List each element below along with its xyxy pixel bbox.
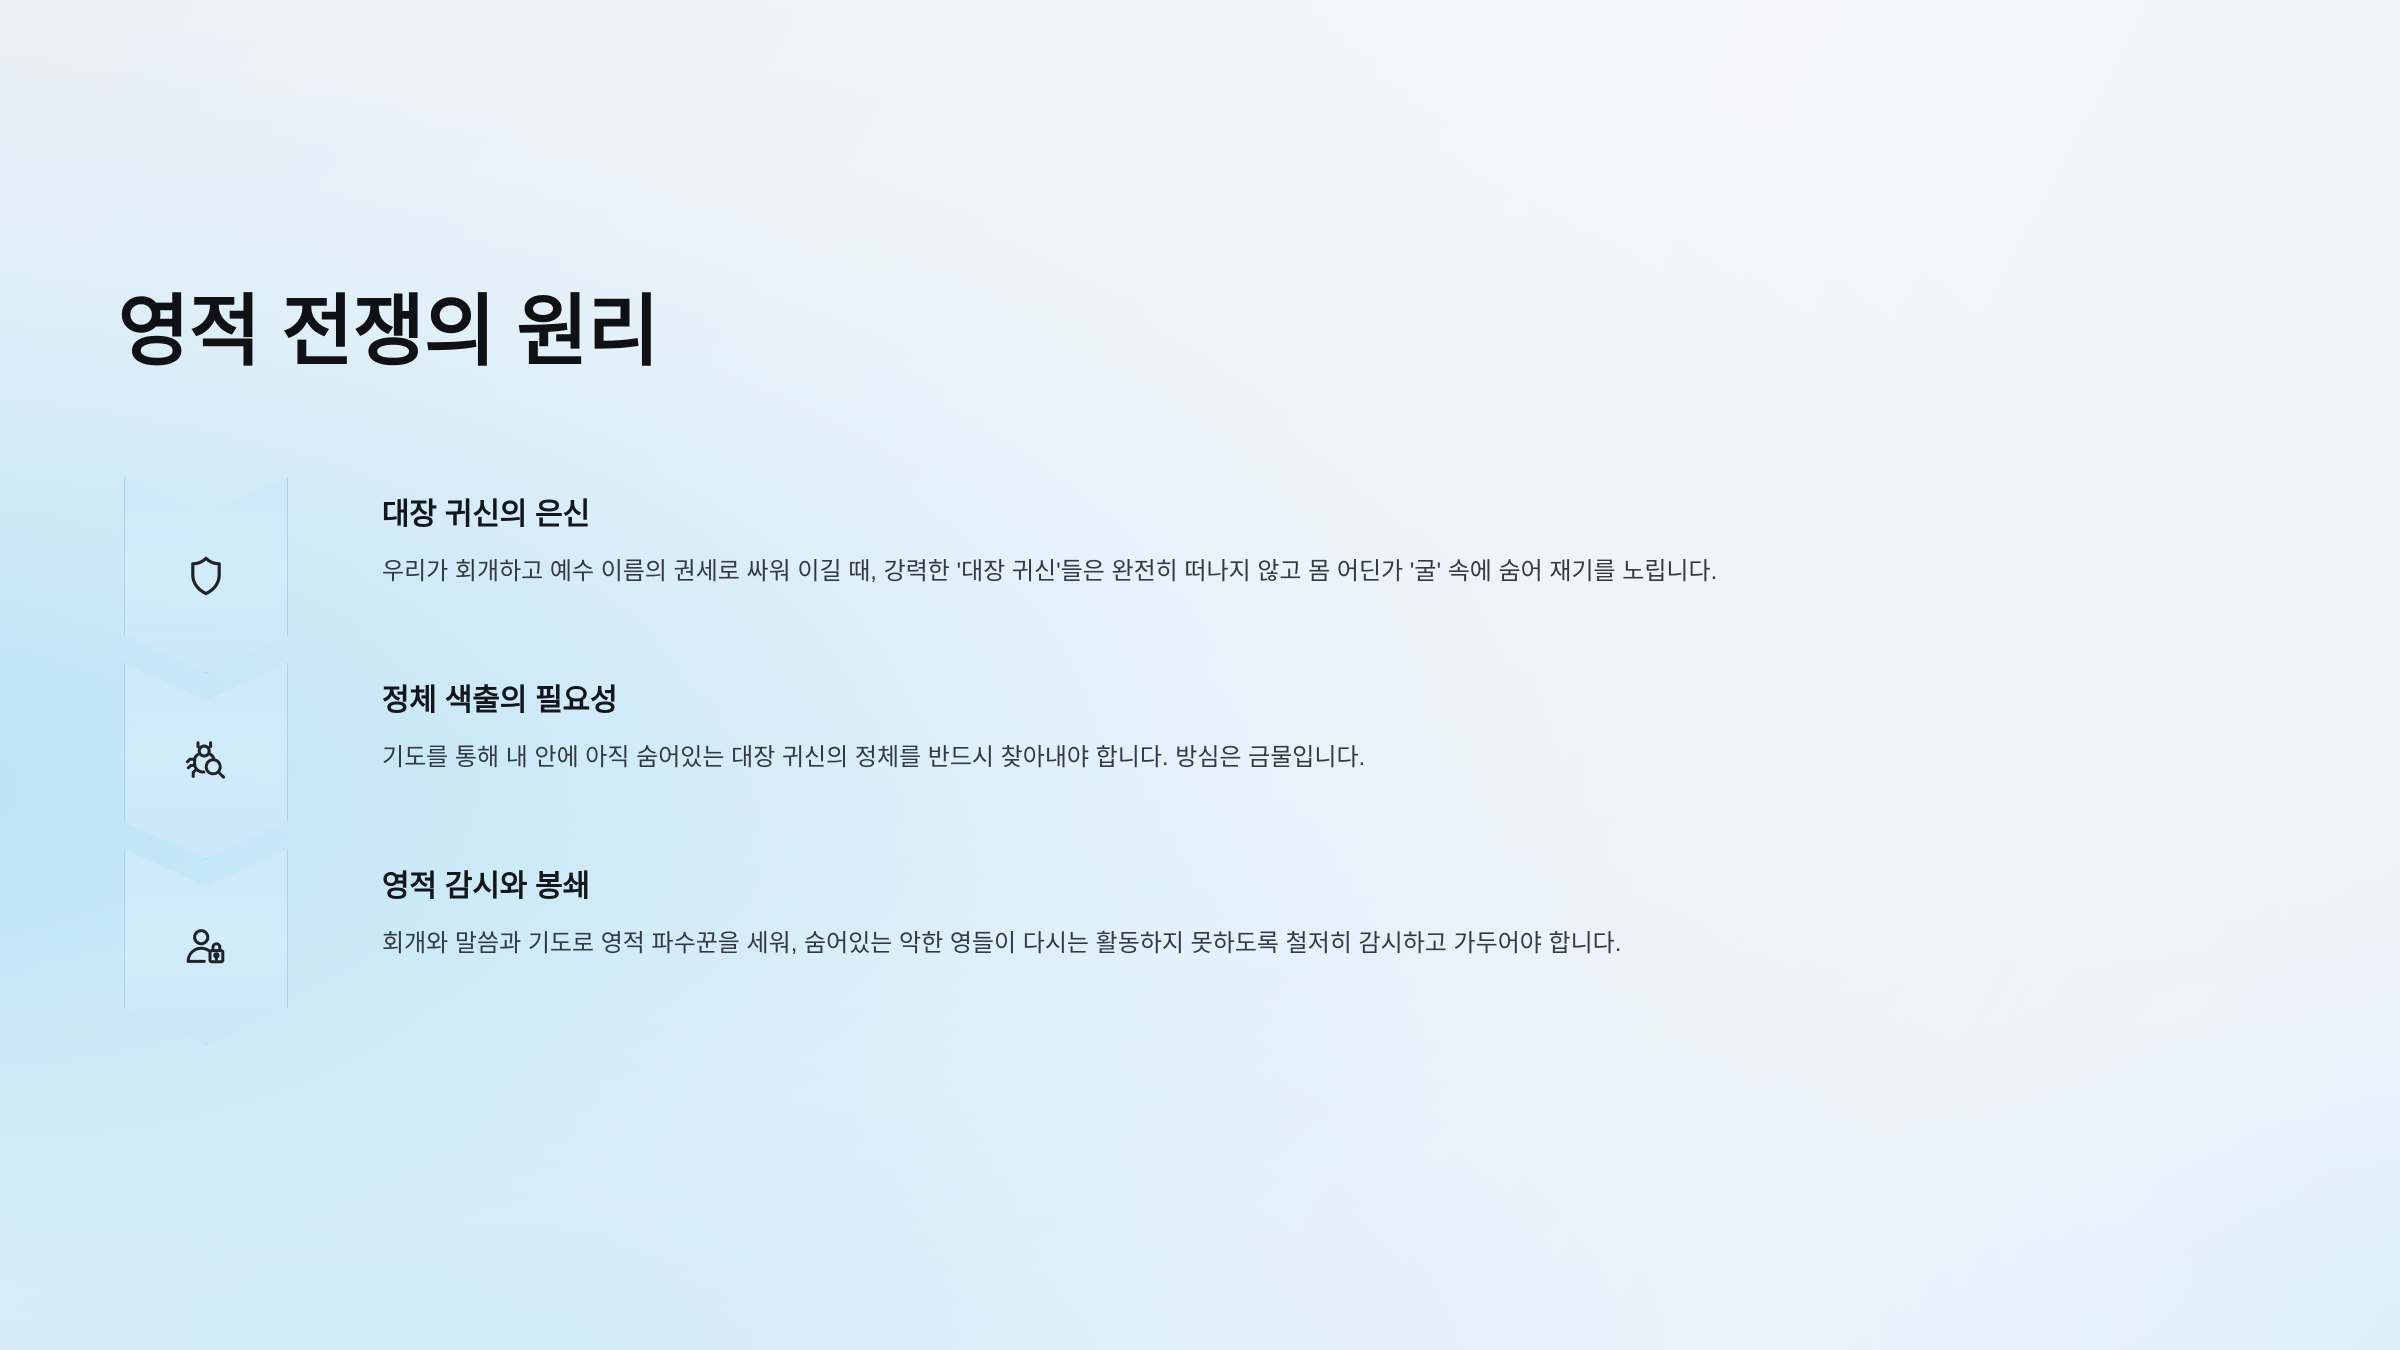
principle-title: 영적 감시와 봉쇄 bbox=[382, 869, 2304, 905]
principle-badge bbox=[124, 663, 288, 859]
principle-item: 대장 귀신의 은신 우리가 회개하고 예수 이름의 권세로 싸워 이길 때, 강… bbox=[124, 475, 2304, 661]
shield-icon bbox=[182, 552, 230, 600]
bug-search-icon bbox=[182, 738, 230, 786]
principle-text-block: 영적 감시와 봉쇄 회개와 말씀과 기도로 영적 파수꾼을 세워, 숨어있는 악… bbox=[288, 847, 2304, 962]
principle-text-block: 대장 귀신의 은신 우리가 회개하고 예수 이름의 권세로 싸워 이길 때, 강… bbox=[288, 475, 2304, 590]
principle-text-block: 정체 색출의 필요성 기도를 통해 내 안에 아직 숨어있는 대장 귀신의 정체… bbox=[288, 661, 2304, 776]
principle-title: 대장 귀신의 은신 bbox=[382, 497, 2304, 533]
principle-badge bbox=[124, 849, 288, 1045]
principle-item: 정체 색출의 필요성 기도를 통해 내 안에 아직 숨어있는 대장 귀신의 정체… bbox=[124, 661, 2304, 847]
principle-item: 영적 감시와 봉쇄 회개와 말씀과 기도로 영적 파수꾼을 세워, 숨어있는 악… bbox=[124, 847, 2304, 1033]
principle-description: 기도를 통해 내 안에 아직 숨어있는 대장 귀신의 정체를 반드시 찾아내야 … bbox=[382, 741, 2304, 776]
user-lock-icon bbox=[182, 924, 230, 972]
principle-description: 회개와 말씀과 기도로 영적 파수꾼을 세워, 숨어있는 악한 영들이 다시는 … bbox=[382, 927, 2304, 962]
slide-canvas: 영적 전쟁의 원리 대장 귀신의 은신 우리가 회개하고 예수 이름의 권세로 … bbox=[0, 0, 2400, 1350]
page-title: 영적 전쟁의 원리 bbox=[118, 288, 659, 375]
principle-badge bbox=[124, 477, 288, 673]
principle-title: 정체 색출의 필요성 bbox=[382, 683, 2304, 719]
principles-list: 대장 귀신의 은신 우리가 회개하고 예수 이름의 권세로 싸워 이길 때, 강… bbox=[124, 475, 2304, 1033]
principle-description: 우리가 회개하고 예수 이름의 권세로 싸워 이길 때, 강력한 '대장 귀신'… bbox=[382, 555, 2304, 590]
